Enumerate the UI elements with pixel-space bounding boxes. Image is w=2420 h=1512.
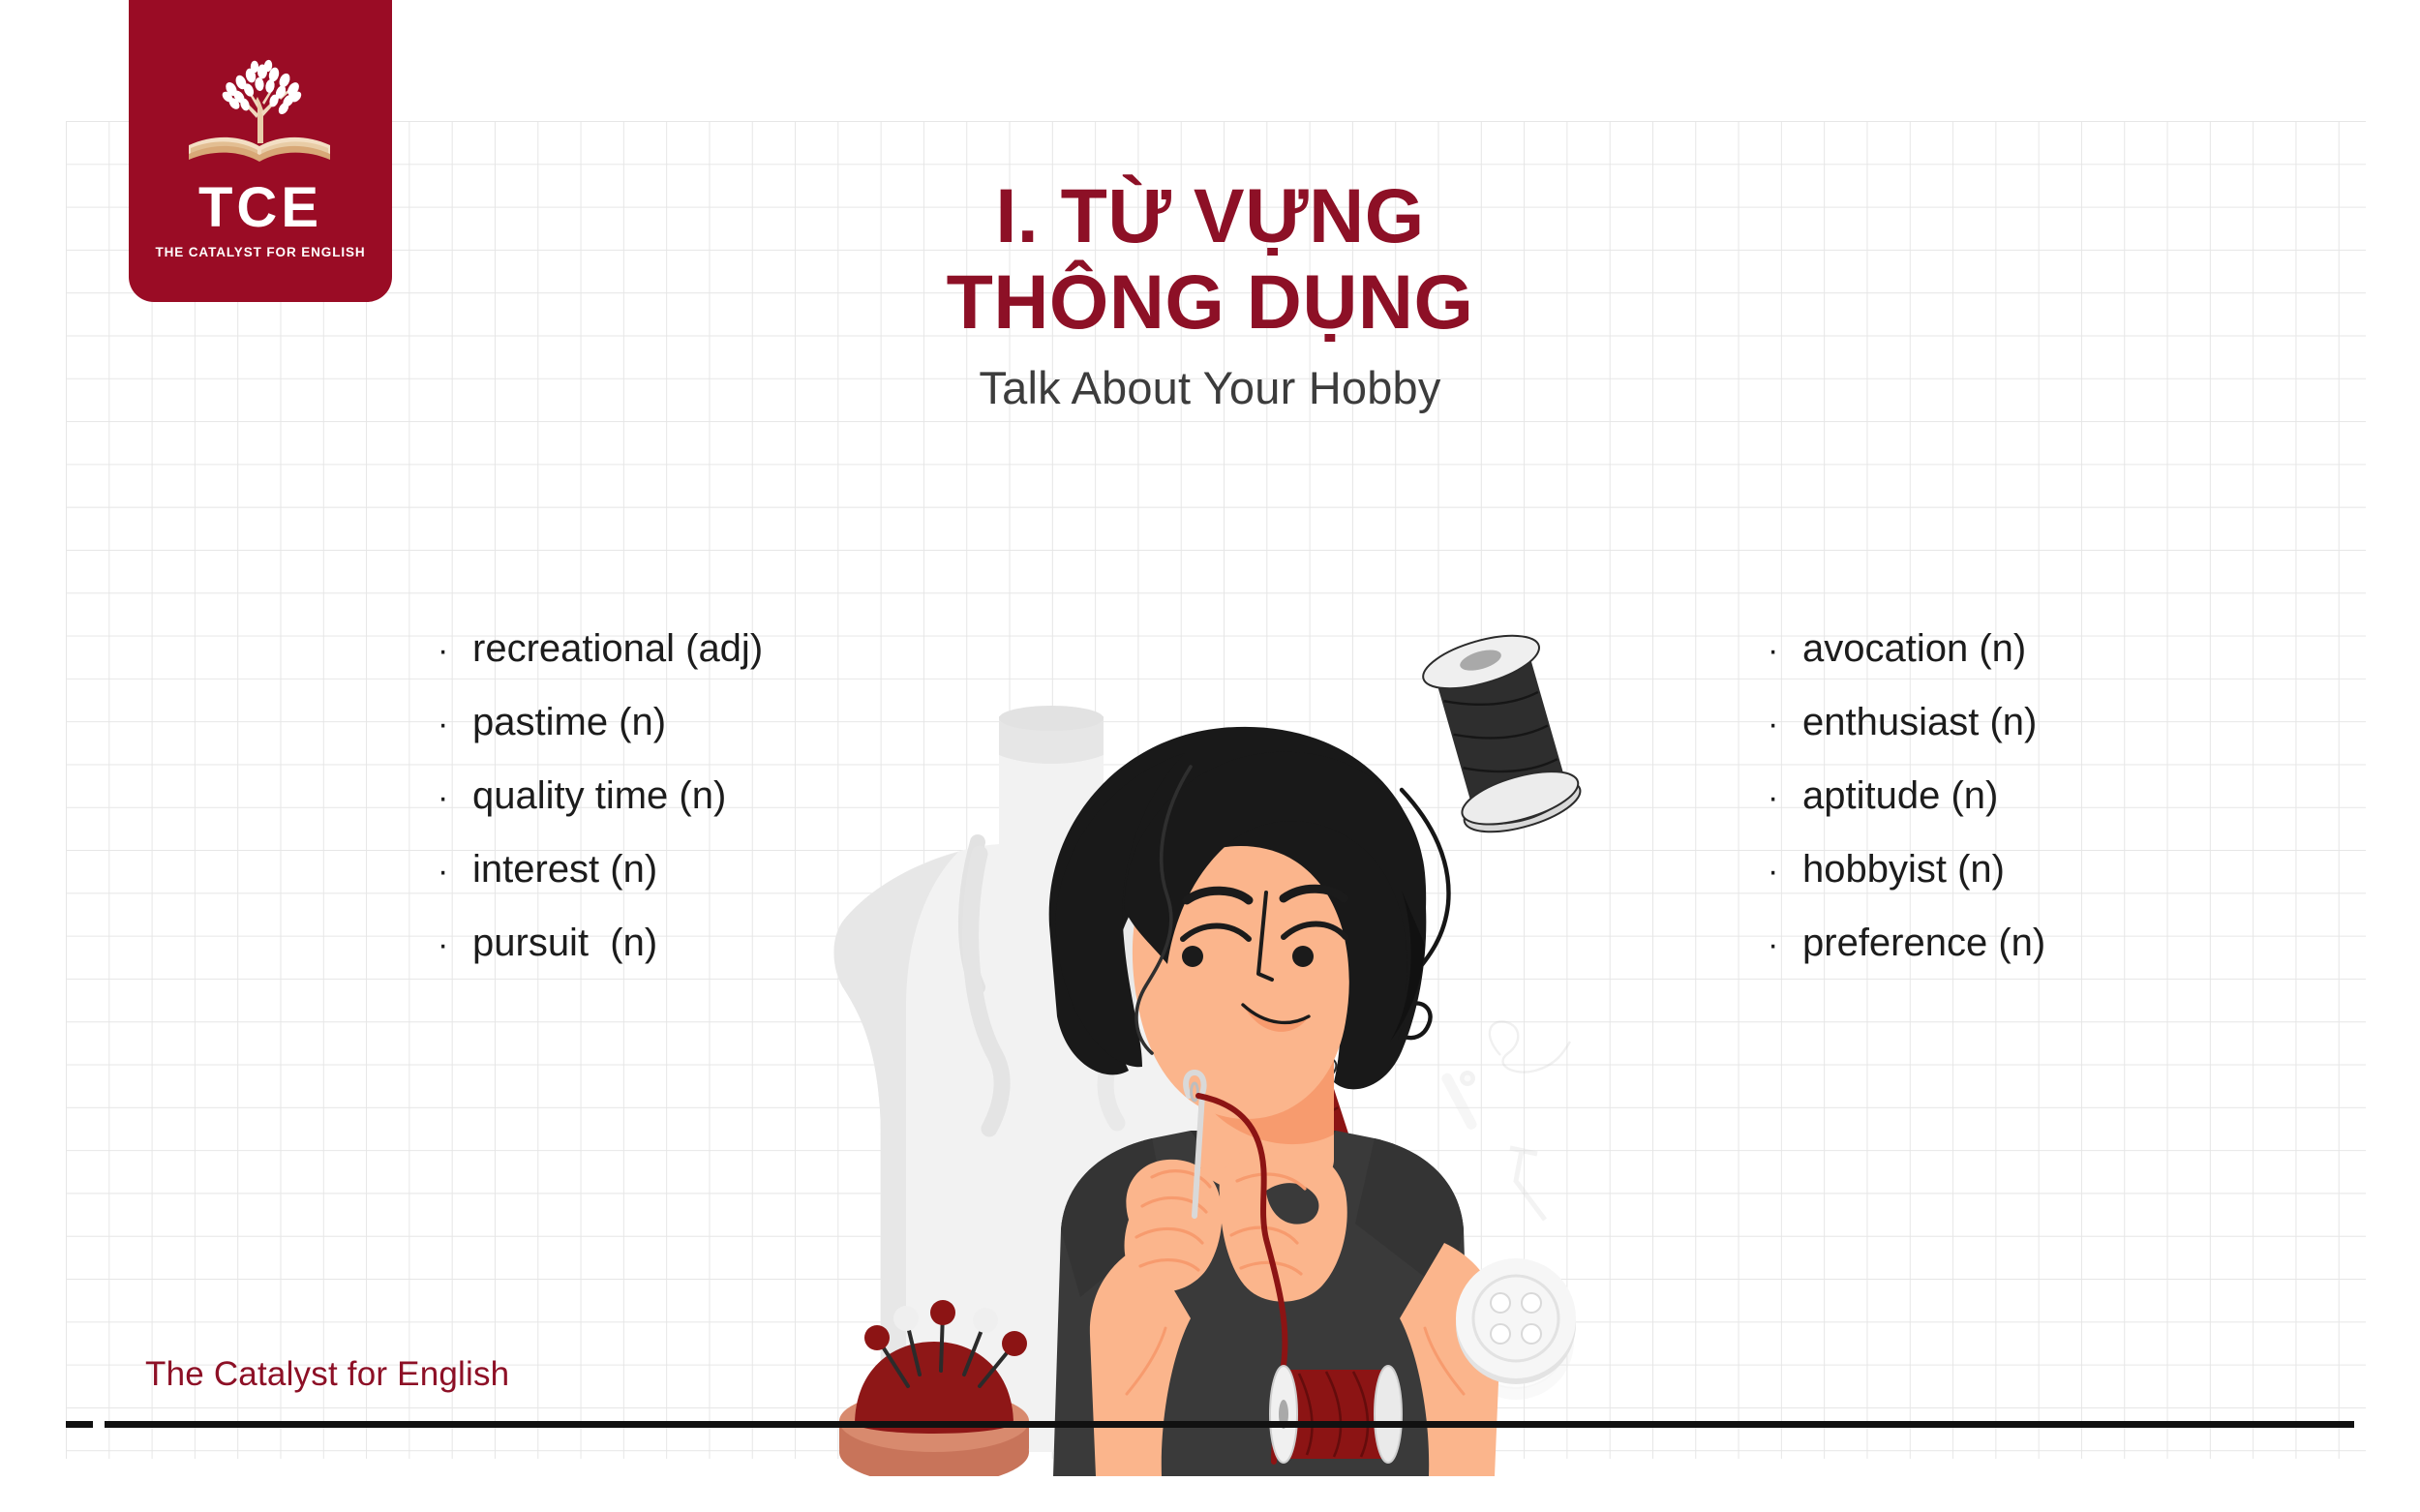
red-thread-spool-icon — [1224, 1045, 1386, 1254]
pin-cushion-icon — [839, 1300, 1029, 1476]
bullet-icon: · — [1768, 928, 1802, 961]
bullet-icon: · — [1768, 855, 1802, 888]
vocabulary-item: ·recreational (adj) — [438, 629, 941, 668]
vocabulary-item: ·pastime (n) — [438, 703, 941, 741]
vocabulary-item: ·enthusiast (n) — [1768, 703, 2271, 741]
footer-dash — [66, 1421, 93, 1428]
vocabulary-term: recreational (adj) — [472, 629, 763, 668]
vocabulary-term: preference (n) — [1802, 923, 2045, 962]
bullet-icon: · — [1768, 781, 1802, 814]
vocabulary-item: ·interest (n) — [438, 850, 941, 889]
bullet-icon: · — [438, 708, 472, 741]
vocabulary-right-column: ·avocation (n)·enthusiast (n)·aptitude (… — [1768, 629, 2271, 997]
bullet-icon: · — [1768, 708, 1802, 741]
left-hand-icon — [1125, 1160, 1223, 1292]
footer-brand-text: The Catalyst for English — [145, 1355, 509, 1394]
ghost-pin-icon — [1510, 1148, 1545, 1220]
vocabulary-left-column: ·recreational (adj)·pastime (n)·quality … — [438, 629, 941, 997]
vocabulary-item: ·quality time (n) — [438, 776, 941, 815]
arms-icon — [1090, 1243, 1500, 1476]
page-subtitle: Talk About Your Hobby — [605, 361, 1815, 414]
vocabulary-item: ·aptitude (n) — [1768, 776, 2271, 815]
red-thread-loop-icon — [1152, 1104, 1341, 1285]
slide-canvas: TCE THE CATALYST FOR ENGLISH I. TỪ VỰNG … — [0, 0, 2420, 1512]
ghost-button-icon — [1458, 1284, 1574, 1400]
sewing-needle-icon — [1127, 1150, 1181, 1260]
page-title: I. TỪ VỰNG THÔNG DỤNG Talk About Your Ho… — [605, 172, 1815, 414]
bullet-icon: · — [438, 634, 472, 667]
woman-head-icon — [1049, 727, 1427, 1196]
bullet-icon: · — [438, 781, 472, 814]
white-button-icon — [1456, 1258, 1576, 1384]
vocabulary-term: aptitude (n) — [1802, 776, 1998, 815]
vocabulary-item: ·preference (n) — [1768, 923, 2271, 962]
ghost-needle-with-thread-icon — [1440, 1021, 1570, 1131]
vocabulary-term: pursuit (n) — [472, 923, 657, 962]
vocabulary-item: ·pursuit (n) — [438, 923, 941, 962]
vocabulary-item: ·avocation (n) — [1768, 629, 2271, 668]
vocabulary-term: pastime (n) — [472, 703, 666, 741]
title-line-2: THÔNG DỤNG — [605, 258, 1815, 345]
bullet-icon: · — [1768, 634, 1802, 667]
vocabulary-term: interest (n) — [472, 850, 657, 889]
black-thread-strand-icon — [1392, 790, 1448, 1038]
black-thread-spool-icon — [1417, 625, 1586, 843]
small-red-thread-spool-icon — [1270, 1366, 1402, 1463]
vocabulary-term: enthusiast (n) — [1802, 703, 2037, 741]
vocabulary-item: ·hobbyist (n) — [1768, 850, 2271, 889]
footer-rule — [105, 1421, 2354, 1428]
logo-tagline: THE CATALYST FOR ENGLISH — [155, 245, 365, 259]
vocabulary-term: hobbyist (n) — [1802, 850, 2005, 889]
brand-logo-panel[interactable]: TCE THE CATALYST FOR ENGLISH — [129, 0, 392, 302]
red-sewing-thread-icon — [1198, 1096, 1285, 1462]
handheld-needle-icon — [1186, 1073, 1203, 1216]
bullet-icon: · — [438, 855, 472, 888]
tree-on-open-book-icon — [181, 50, 340, 178]
title-line-1: I. TỪ VỰNG — [605, 172, 1815, 258]
vocabulary-term: quality time (n) — [472, 776, 726, 815]
bullet-icon: · — [438, 928, 472, 961]
right-hand-icon — [1220, 1144, 1347, 1302]
vocabulary-term: avocation (n) — [1802, 629, 2026, 668]
logo-initials: TCE — [198, 180, 322, 236]
